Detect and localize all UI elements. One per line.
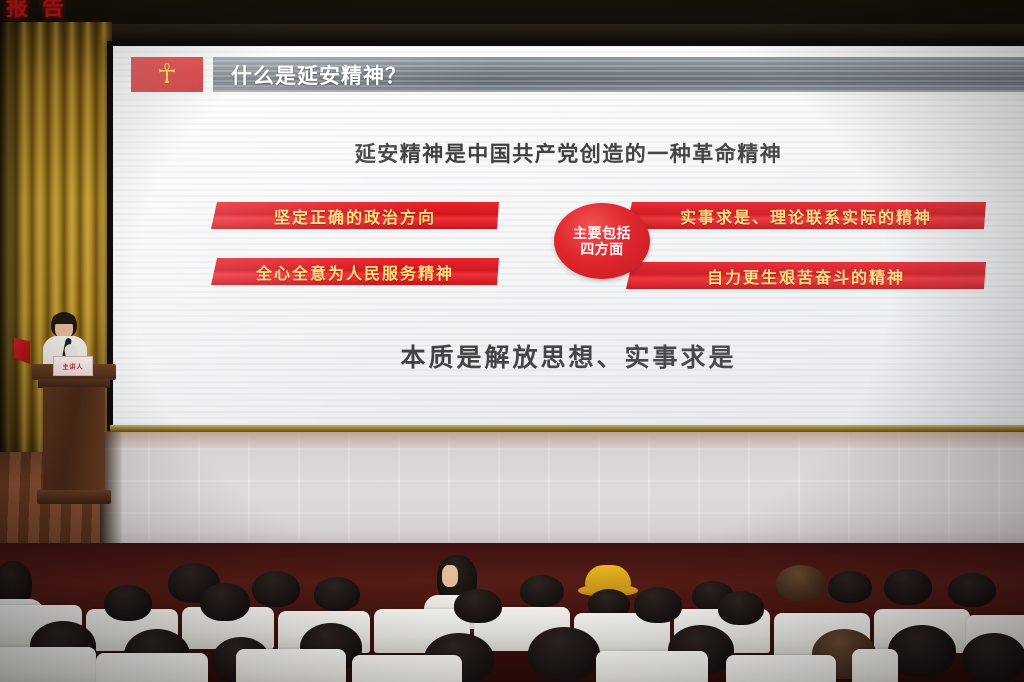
slide-banner-2-label: 实事求是、理论联系实际的精神	[680, 204, 932, 228]
audience-head	[200, 583, 250, 621]
slide-banner-3: 全心全意为人民服务精神	[211, 258, 499, 285]
slide-lead-line: 延安精神是中国共产党创造的一种革命精神	[113, 138, 1024, 168]
audience-seat	[852, 649, 898, 682]
slide-header-bar: 什么是延安精神？	[213, 57, 1024, 92]
audience-head	[962, 633, 1024, 682]
audience-area	[0, 543, 1024, 682]
podium-name-sign: 主讲人	[53, 356, 93, 376]
audience-head	[776, 565, 826, 601]
slide-banner-3-label: 全心全意为人民服务精神	[256, 260, 454, 284]
curtain-shadow	[0, 22, 26, 467]
slide-banner-4-label: 自力更生艰苦奋斗的精神	[707, 264, 905, 288]
podium-base	[37, 490, 111, 504]
audience-head	[888, 625, 956, 677]
led-banner-strip: 报告	[0, 0, 1024, 26]
slide-header: ☥ 什么是延安精神？	[131, 57, 1024, 92]
audience-head	[884, 569, 932, 605]
audience-head	[252, 571, 300, 607]
slide-footer-line: 本质是解放思想、实事求是	[113, 338, 1024, 374]
audience-seat	[726, 655, 836, 682]
audience-seat	[236, 649, 346, 682]
slide-banner-2: 实事求是、理论联系实际的精神	[626, 202, 986, 229]
center-circle-badge-label: 主要包括四方面	[571, 225, 633, 257]
party-emblem-badge: ☥	[131, 57, 203, 92]
audience-head	[948, 573, 996, 607]
podium	[32, 364, 116, 509]
audience-seat	[596, 651, 708, 682]
audience-face	[442, 565, 458, 587]
audience-head	[314, 577, 360, 611]
podium-name-sign-label: 主讲人	[62, 362, 83, 371]
audience-seat	[96, 653, 208, 682]
slide-banner-4: 自力更生艰苦奋斗的精神	[626, 262, 986, 289]
slide-banner-1-label: 坚定正确的政治方向	[274, 204, 436, 228]
wall-light-wash	[100, 432, 1024, 544]
audience-head	[528, 627, 600, 681]
audience-seat	[0, 647, 96, 682]
audience-seat	[352, 655, 462, 682]
podium-body	[43, 387, 105, 492]
bucket-hat	[585, 565, 631, 589]
projection-screen: ☥ 什么是延安精神？ 延安精神是中国共产党创造的一种革命精神 坚定正确的政治方向…	[113, 46, 1024, 425]
led-banner-text: 报告	[6, 0, 78, 22]
audience-head	[520, 575, 564, 607]
center-circle-badge: 主要包括四方面	[554, 203, 650, 279]
speaker-fringe	[52, 314, 76, 324]
audience-head	[828, 571, 872, 603]
audience-head	[718, 591, 764, 625]
slide-header-title: 什么是延安精神？	[231, 60, 407, 90]
screen-bottom-trim	[110, 425, 1024, 432]
hammer-and-sickle-icon: ☥	[157, 60, 177, 87]
audience-head	[454, 589, 502, 623]
slide-banner-1: 坚定正确的政治方向	[211, 202, 499, 229]
audience-head	[634, 587, 682, 623]
auditorium-scene: 报告 ☥ 什么是延安精神？ 延安精神是中国共产党创造的一种革命精神 坚定正确的政…	[0, 0, 1024, 682]
audience-head	[104, 585, 152, 621]
